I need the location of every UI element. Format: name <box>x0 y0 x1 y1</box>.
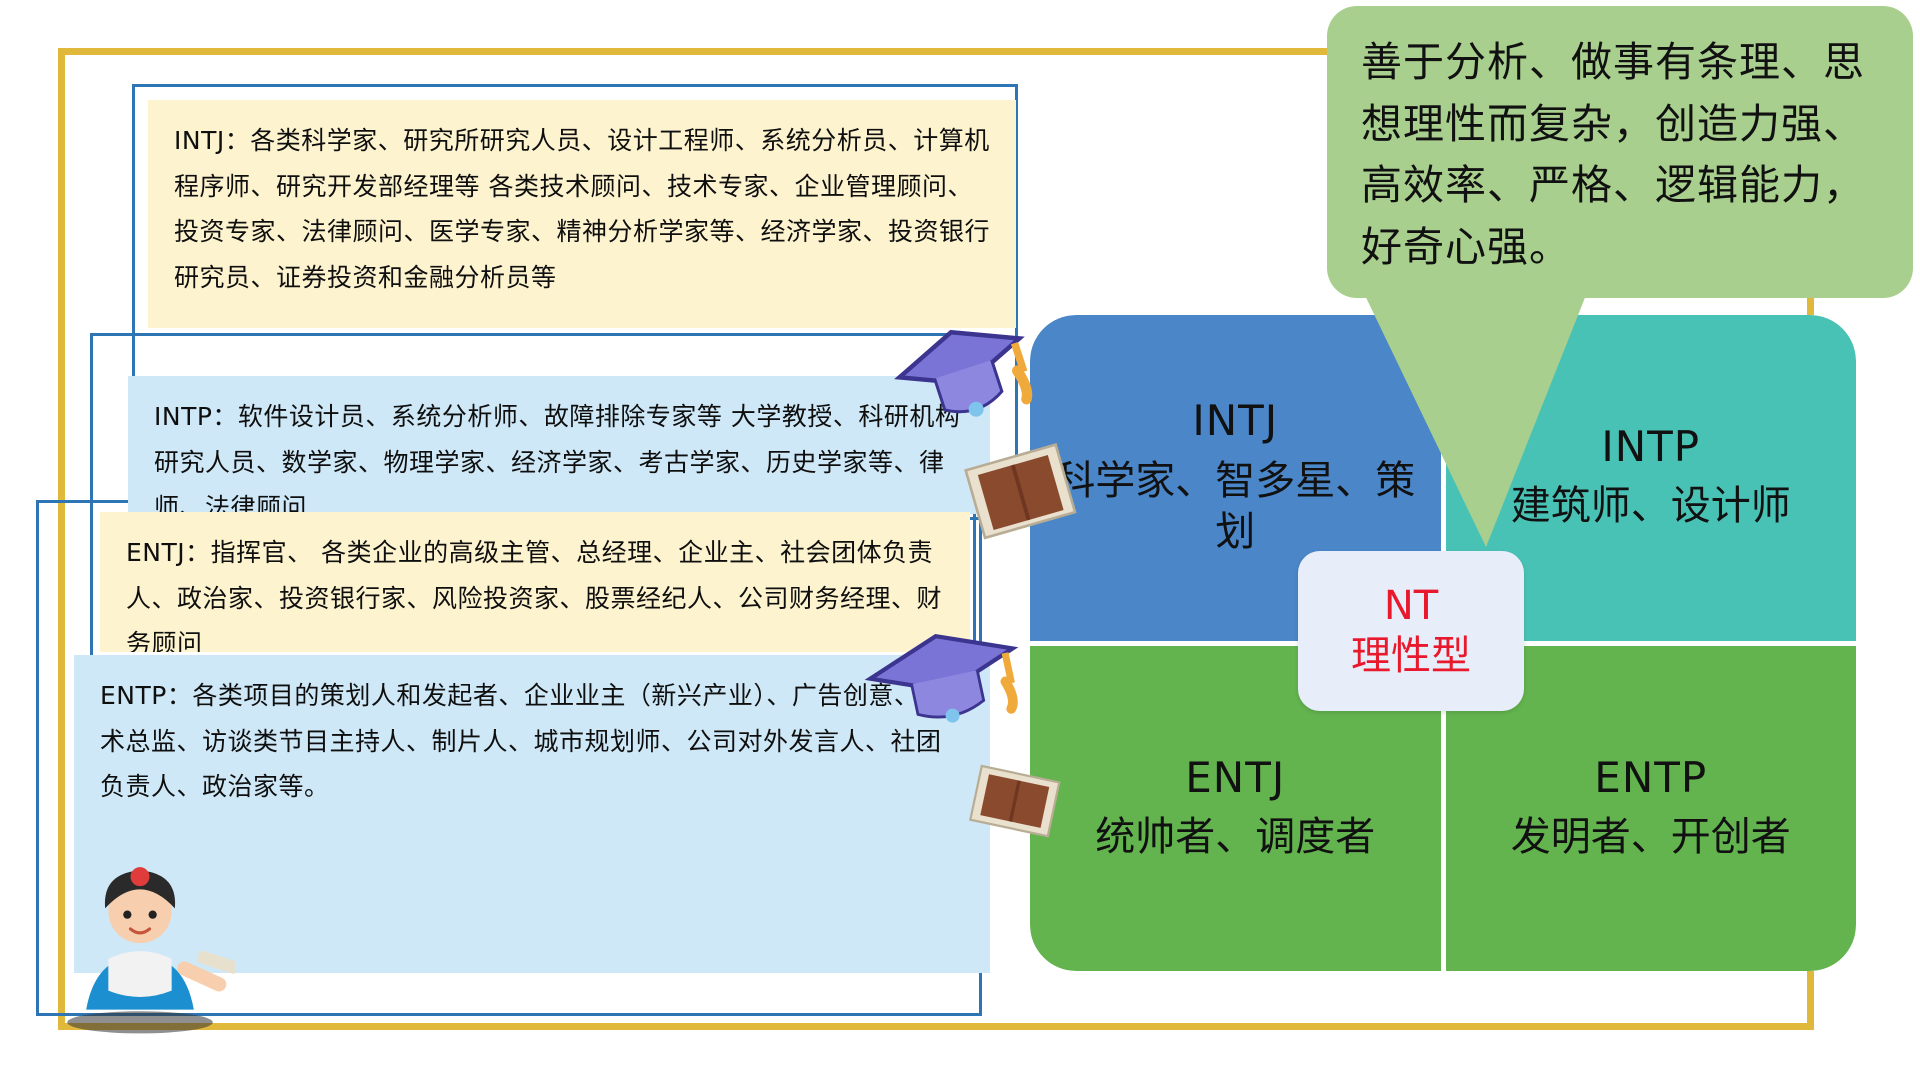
callout-bubble[interactable]: 善于分析、做事有条理、思想理性而复杂，创造力强、高效率、严格、逻辑能力，好奇心强… <box>1327 6 1913 298</box>
quadrant-entp-code: ENTP <box>1594 754 1707 802</box>
quadrant-entp-desc: 发明者、开创者 <box>1489 812 1813 863</box>
quadrant-entj-code: ENTJ <box>1185 754 1285 802</box>
nt-center-badge[interactable]: NT 理性型 <box>1298 551 1524 711</box>
card-intj-text: INTJ：各类科学家、研究所研究人员、设计工程师、系统分析员、计算机程序师、研究… <box>174 118 990 300</box>
quadrant-entj-desc: 统帅者、调度者 <box>1073 812 1397 863</box>
card-entj[interactable]: ENTJ：指挥官、 各类企业的高级主管、总经理、企业主、社会团体负责人、政治家、… <box>100 512 970 652</box>
nt-badge-code: NT <box>1384 581 1438 631</box>
nt-badge-label: 理性型 <box>1351 631 1471 681</box>
card-intj[interactable]: INTJ：各类科学家、研究所研究人员、设计工程师、系统分析员、计算机程序师、研究… <box>148 100 1016 328</box>
quadrant-intj-code: INTJ <box>1192 397 1278 445</box>
book-icon <box>960 745 1070 855</box>
graduation-cap-icon <box>860 610 1030 750</box>
slide-canvas: INTJ：各类科学家、研究所研究人员、设计工程师、系统分析员、计算机程序师、研究… <box>0 0 1920 1080</box>
callout-tail <box>1360 285 1620 550</box>
card-entp-text: ENTP：各类项目的策划人和发起者、企业业主（新兴产业）、广告创意、艺术总监、访… <box>100 673 964 810</box>
card-intp[interactable]: INTP：软件设计员、系统分析师、故障排除专家等 大学教授、科研机构研究人员、数… <box>128 376 990 514</box>
book-icon <box>955 425 1085 555</box>
callout-text: 善于分析、做事有条理、思想理性而复杂，创造力强、高效率、严格、逻辑能力，好奇心强… <box>1361 38 1865 271</box>
student-figure-icon <box>45 845 235 1035</box>
card-intp-text: INTP：软件设计员、系统分析师、故障排除专家等 大学教授、科研机构研究人员、数… <box>154 394 964 514</box>
card-entj-text: ENTJ：指挥官、 各类企业的高级主管、总经理、企业主、社会团体负责人、政治家、… <box>126 530 944 652</box>
